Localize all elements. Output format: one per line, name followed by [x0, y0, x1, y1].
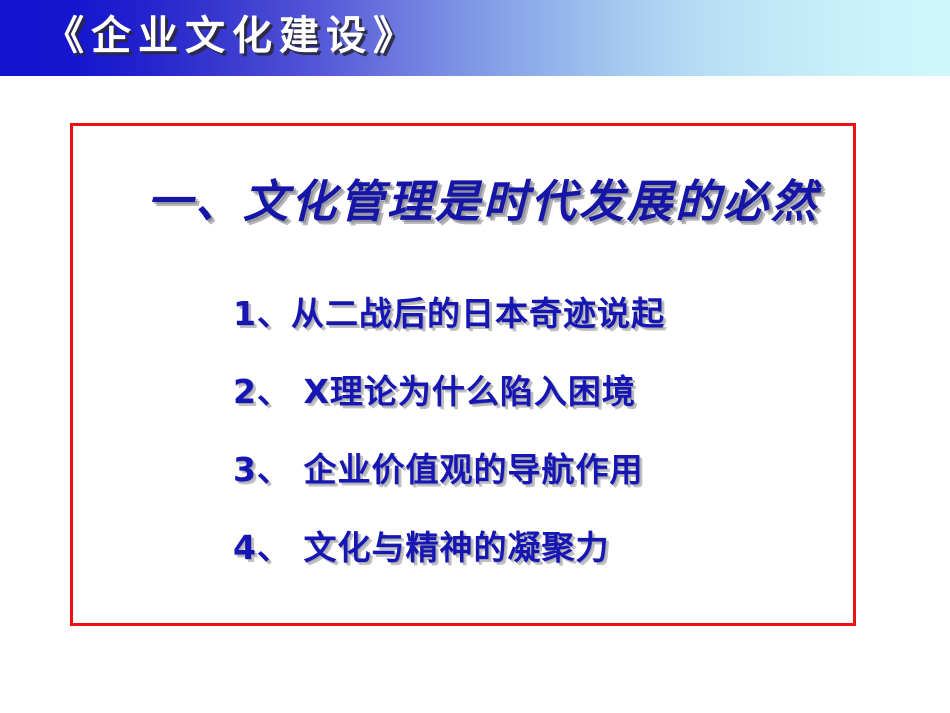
list-item[interactable]: 1、从二战后的日本奇迹说起 — [233, 294, 833, 334]
numbered-list: 1、从二战后的日本奇迹说起 2、 X理论为什么陷入困境 3、 企业价值观的导航作… — [233, 294, 833, 568]
content-box: 一、文化管理是时代发展的必然 1、从二战后的日本奇迹说起 2、 X理论为什么陷入… — [70, 123, 856, 626]
presentation-slide: 《企业文化建设》 一、文化管理是时代发展的必然 1、从二战后的日本奇迹说起 2、… — [0, 0, 950, 713]
slide-header-band: 《企业文化建设》 — [0, 0, 950, 76]
slide-header-title: 《企业文化建设》 — [44, 12, 420, 60]
list-item[interactable]: 2、 X理论为什么陷入困境 — [233, 372, 833, 412]
list-item[interactable]: 3、 企业价值观的导航作用 — [233, 450, 833, 490]
list-item[interactable]: 4、 文化与精神的凝聚力 — [233, 528, 833, 568]
section-heading: 一、文化管理是时代发展的必然 — [147, 174, 847, 230]
